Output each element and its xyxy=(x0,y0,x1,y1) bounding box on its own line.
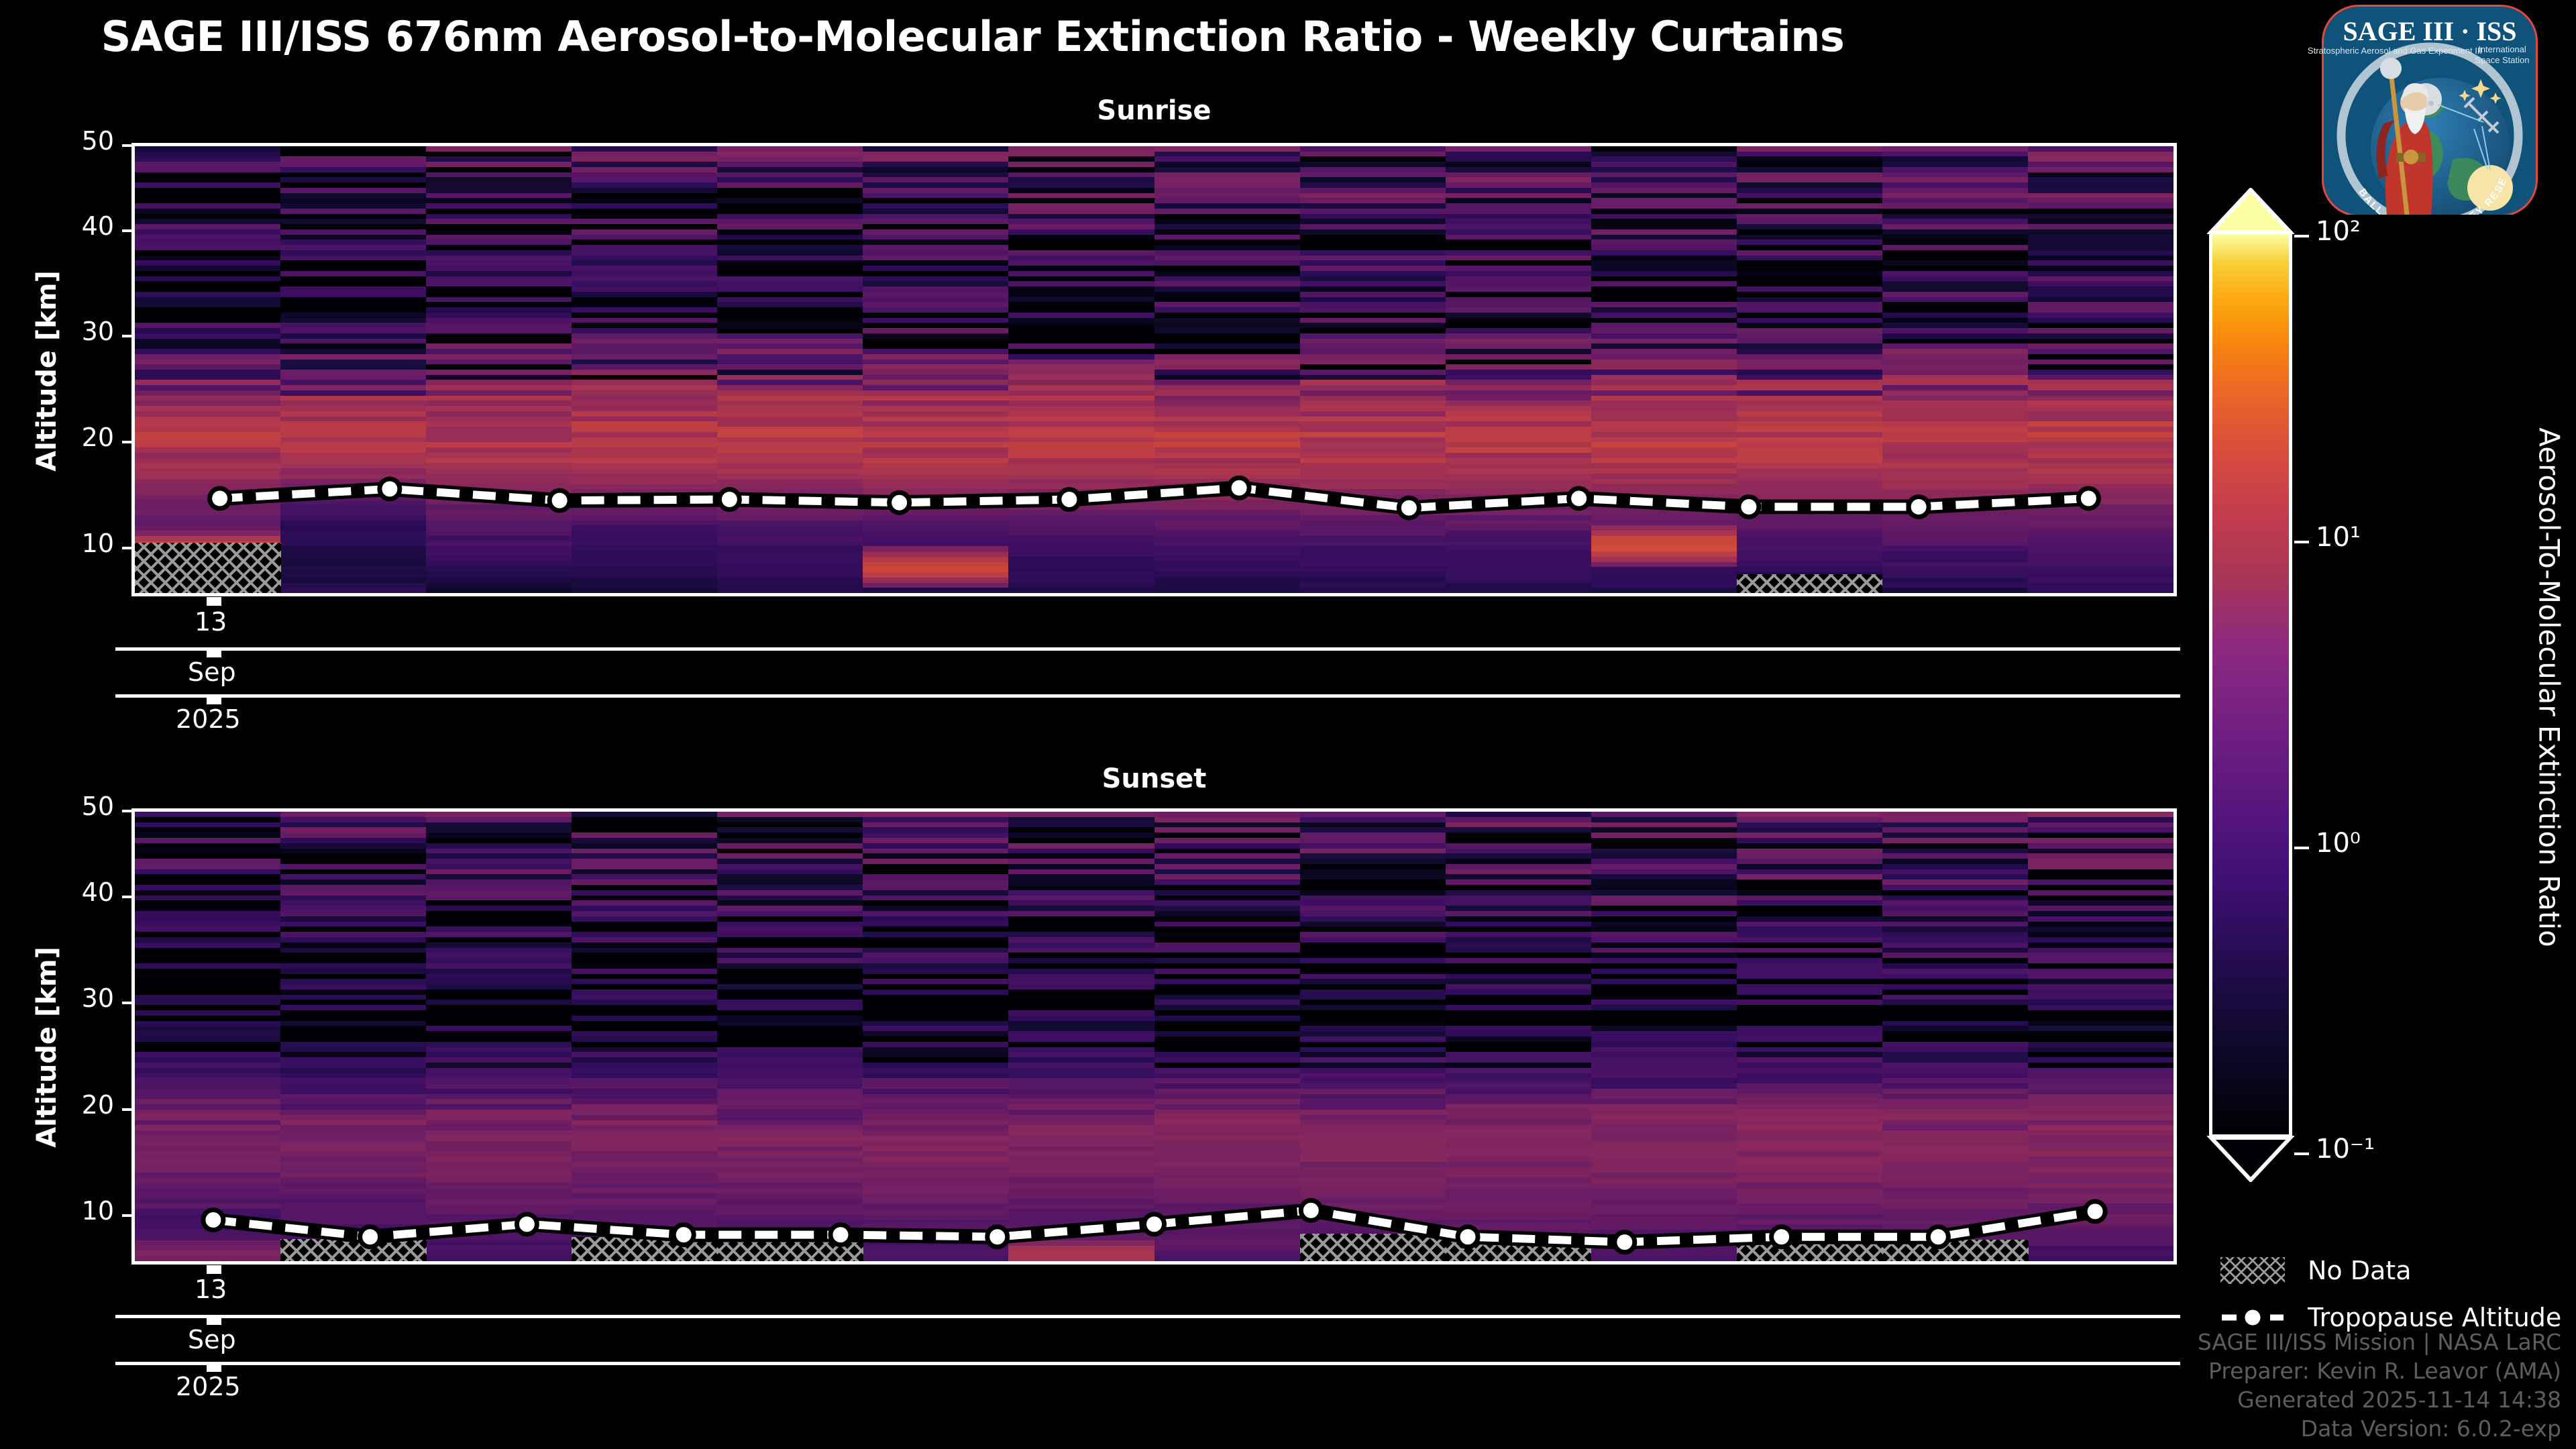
date-label-day-sunrise: 13 xyxy=(195,607,227,637)
y-tick-sunrise-50: 50 xyxy=(13,126,114,156)
colorbar-tick-1e-1: 10⁻¹ xyxy=(2316,1134,2375,1165)
tropopause-marker xyxy=(380,479,400,499)
date-rule-month-sunrise xyxy=(115,694,2180,698)
colorbar-tickmark-1e2 xyxy=(2294,235,2309,237)
footer-line-version: Data Version: 6.0.2-exp xyxy=(2198,1415,2561,1444)
tropopause-marker xyxy=(360,1227,380,1247)
y-tick-sunrise-10: 10 xyxy=(13,529,114,558)
tropopause-marker xyxy=(1059,490,1079,510)
y-tick-sunset-30: 30 xyxy=(13,983,114,1013)
tropopause-marker xyxy=(517,1214,537,1234)
tropopause-marker xyxy=(2085,1201,2105,1222)
legend-label-no-data: No Data xyxy=(2308,1256,2412,1285)
y-tickmark-sunrise-50 xyxy=(122,144,132,147)
sage-iii-iss-mission-logo: BALL · NASA LANGLEY RESEARCH CENTER · TA… xyxy=(2289,1,2571,215)
y-tick-sunset-20: 20 xyxy=(13,1090,114,1120)
colorbar-axis-label: Aerosol-To-Molecular Extinction Ratio xyxy=(2533,319,2566,1057)
y-tick-sunrise-30: 30 xyxy=(13,317,114,346)
tropopause-marker xyxy=(549,490,570,511)
tropopause-marker xyxy=(1229,478,1249,498)
y-tick-sunrise-20: 20 xyxy=(13,423,114,452)
date-tick-month-sunset xyxy=(207,1316,221,1325)
date-tick-month-sunrise xyxy=(207,649,221,657)
tropopause-marker xyxy=(210,488,230,508)
tropopause-marker xyxy=(1909,497,1929,517)
y-tickmark-sunset-40 xyxy=(122,896,132,898)
tropopause-marker xyxy=(987,1227,1008,1247)
tropopause-marker xyxy=(1399,498,1419,518)
tropopause-marker xyxy=(1301,1200,1321,1220)
tropopause-marker xyxy=(1772,1227,1792,1247)
tropopause-line-halo xyxy=(220,488,2089,508)
date-label-month-sunset: Sep xyxy=(188,1325,236,1354)
page-title: SAGE III/ISS 676nm Aerosol-to-Molecular … xyxy=(0,12,1945,61)
colorbar[interactable] xyxy=(2207,188,2294,1181)
date-rule-day-sunrise xyxy=(115,647,2180,651)
colorbar-tickmark-1e-1 xyxy=(2294,1152,2309,1155)
y-tickmark-sunrise-10 xyxy=(122,547,132,549)
no-data-hatch-icon xyxy=(2220,1257,2285,1284)
colorbar-tick-1e1: 10¹ xyxy=(2316,522,2361,553)
legend-item-no-data: No Data xyxy=(2220,1256,2412,1285)
tropopause-marker xyxy=(1458,1227,1478,1247)
heatmap-sunrise[interactable] xyxy=(131,143,2177,596)
y-tickmark-sunset-30 xyxy=(122,1002,132,1004)
tropopause-marker xyxy=(1615,1232,1635,1252)
colorbar-tick-1e2: 10² xyxy=(2316,216,2361,247)
date-rule-month-sunset xyxy=(115,1362,2180,1365)
date-rule-day-sunset xyxy=(115,1315,2180,1318)
tropopause-marker xyxy=(203,1210,223,1230)
date-tick-day-sunrise xyxy=(207,597,221,606)
y-tickmark-sunrise-20 xyxy=(122,441,132,443)
colorbar-top-extend-arrow xyxy=(2207,188,2294,235)
colorbar-tick-1e0: 10⁰ xyxy=(2316,828,2361,859)
y-tickmark-sunrise-30 xyxy=(122,335,132,337)
colorbar-tickmark-1e1 xyxy=(2294,541,2309,543)
tropopause-marker xyxy=(830,1225,851,1245)
date-tick-year-sunset xyxy=(207,1363,221,1372)
logo-subtitle-right-1: International xyxy=(2478,44,2526,54)
panel-title-sunrise: Sunrise xyxy=(131,95,2177,126)
y-tickmark-sunset-10 xyxy=(122,1214,132,1217)
date-tick-year-sunrise xyxy=(207,696,221,704)
footer-credits: SAGE III/ISS Mission | NASA LaRC Prepare… xyxy=(2198,1328,2561,1444)
panel-title-sunset: Sunset xyxy=(131,763,2177,794)
colorbar-gradient xyxy=(2209,231,2292,1138)
logo-subtitle-right-2: Space Station xyxy=(2475,55,2530,65)
y-tickmark-sunset-50 xyxy=(122,810,132,812)
tropopause-line-marker-icon xyxy=(2220,1304,2285,1331)
tropopause-marker xyxy=(1739,497,1759,517)
date-label-day-sunset: 13 xyxy=(195,1275,227,1304)
date-label-month-sunrise: Sep xyxy=(188,657,236,687)
y-tickmark-sunrise-40 xyxy=(122,229,132,232)
tropopause-marker xyxy=(2078,488,2098,508)
tropopause-marker xyxy=(890,492,910,513)
y-tick-sunset-50: 50 xyxy=(13,792,114,821)
tropopause-marker xyxy=(1569,488,1589,508)
footer-line-generated: Generated 2025-11-14 14:38 xyxy=(2198,1386,2561,1415)
logo-title: SAGE III · ISS xyxy=(2343,16,2516,46)
date-label-year-sunrise: 2025 xyxy=(176,704,241,734)
footer-line-mission: SAGE III/ISS Mission | NASA LaRC xyxy=(2198,1328,2561,1357)
tropopause-marker xyxy=(719,490,739,510)
tropopause-marker xyxy=(1144,1214,1165,1234)
y-tick-sunset-40: 40 xyxy=(13,877,114,907)
logo-subtitle-left: Stratospheric Aerosol and Gas Experiment… xyxy=(2308,46,2482,56)
tropopause-marker xyxy=(674,1225,694,1245)
tropopause-marker xyxy=(1928,1227,1948,1247)
date-tick-day-sunset xyxy=(207,1265,221,1274)
heatmap-sunset[interactable] xyxy=(131,808,2177,1265)
y-tickmark-sunset-20 xyxy=(122,1108,132,1111)
y-tick-sunrise-40: 40 xyxy=(13,211,114,241)
y-tick-sunset-10: 10 xyxy=(13,1196,114,1226)
colorbar-tickmark-1e0 xyxy=(2294,847,2309,849)
date-label-year-sunset: 2025 xyxy=(176,1372,241,1401)
footer-line-preparer: Preparer: Kevin R. Leavor (AMA) xyxy=(2198,1357,2561,1386)
colorbar-bottom-extend-arrow xyxy=(2207,1134,2294,1182)
